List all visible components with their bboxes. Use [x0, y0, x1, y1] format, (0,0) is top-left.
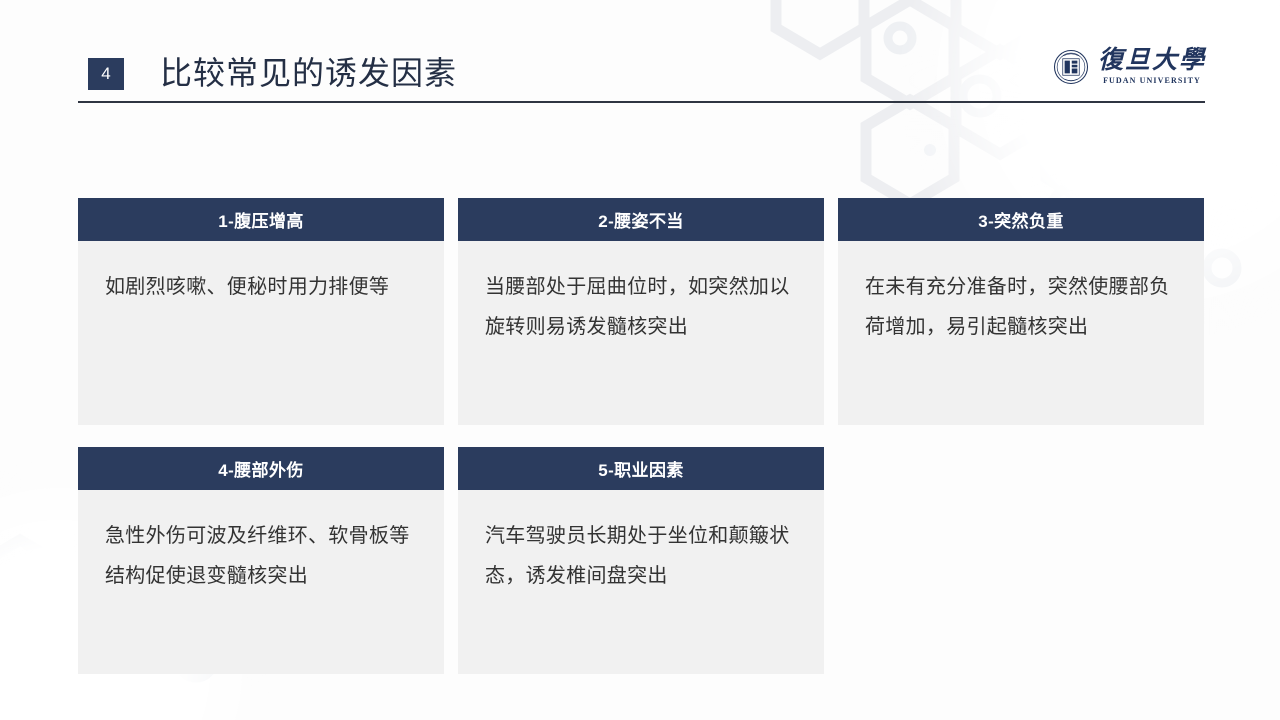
- university-logo: 復旦大學 FUDAN UNIVERSITY: [1053, 48, 1206, 85]
- page-title: 比较常见的诱发因素: [160, 50, 457, 96]
- factor-card-grid: 1-腹压增高 如剧烈咳嗽、便秘时用力排便等 2-腰姿不当 当腰部处于屈曲位时，如…: [78, 198, 1205, 674]
- slide-canvas: 4 比较常见的诱发因素 復旦大學 FUDAN UNIVERSI: [0, 0, 1280, 720]
- factor-card-placeholder: [838, 447, 1204, 674]
- logo-name-cn: 復旦大學: [1098, 48, 1206, 73]
- factor-card-5: 5-职业因素 汽车驾驶员长期处于坐位和颠簸状态，诱发椎间盘突出: [458, 447, 824, 674]
- factor-card-5-header: 5-职业因素: [458, 447, 824, 490]
- fudan-seal-icon: [1053, 49, 1089, 85]
- factor-card-4-header: 4-腰部外伤: [78, 447, 444, 490]
- factor-card-3-body: 在未有充分准备时，突然使腰部负荷增加，易引起髓核突出: [838, 241, 1204, 425]
- factor-card-4-body: 急性外伤可波及纤维环、软骨板等结构促使退变髓核突出: [78, 490, 444, 674]
- factor-card-3-header: 3-突然负重: [838, 198, 1204, 241]
- logo-wordmark: 復旦大學 FUDAN UNIVERSITY: [1098, 48, 1206, 85]
- factor-card-1-header: 1-腹压增高: [78, 198, 444, 241]
- factor-card-4: 4-腰部外伤 急性外伤可波及纤维环、软骨板等结构促使退变髓核突出: [78, 447, 444, 674]
- slide-header: 4 比较常见的诱发因素 復旦大學 FUDAN UNIVERSI: [0, 0, 1280, 118]
- section-number-badge: 4: [88, 58, 124, 90]
- factor-card-5-body: 汽车驾驶员长期处于坐位和颠簸状态，诱发椎间盘突出: [458, 490, 824, 674]
- factor-card-1-body: 如剧烈咳嗽、便秘时用力排便等: [78, 241, 444, 425]
- header-divider: [78, 101, 1205, 103]
- logo-name-en: FUDAN UNIVERSITY: [1103, 77, 1201, 85]
- factor-card-1: 1-腹压增高 如剧烈咳嗽、便秘时用力排便等: [78, 198, 444, 425]
- factor-card-3: 3-突然负重 在未有充分准备时，突然使腰部负荷增加，易引起髓核突出: [838, 198, 1204, 425]
- factor-card-2-body: 当腰部处于屈曲位时，如突然加以旋转则易诱发髓核突出: [458, 241, 824, 425]
- factor-card-2-header: 2-腰姿不当: [458, 198, 824, 241]
- factor-card-2: 2-腰姿不当 当腰部处于屈曲位时，如突然加以旋转则易诱发髓核突出: [458, 198, 824, 425]
